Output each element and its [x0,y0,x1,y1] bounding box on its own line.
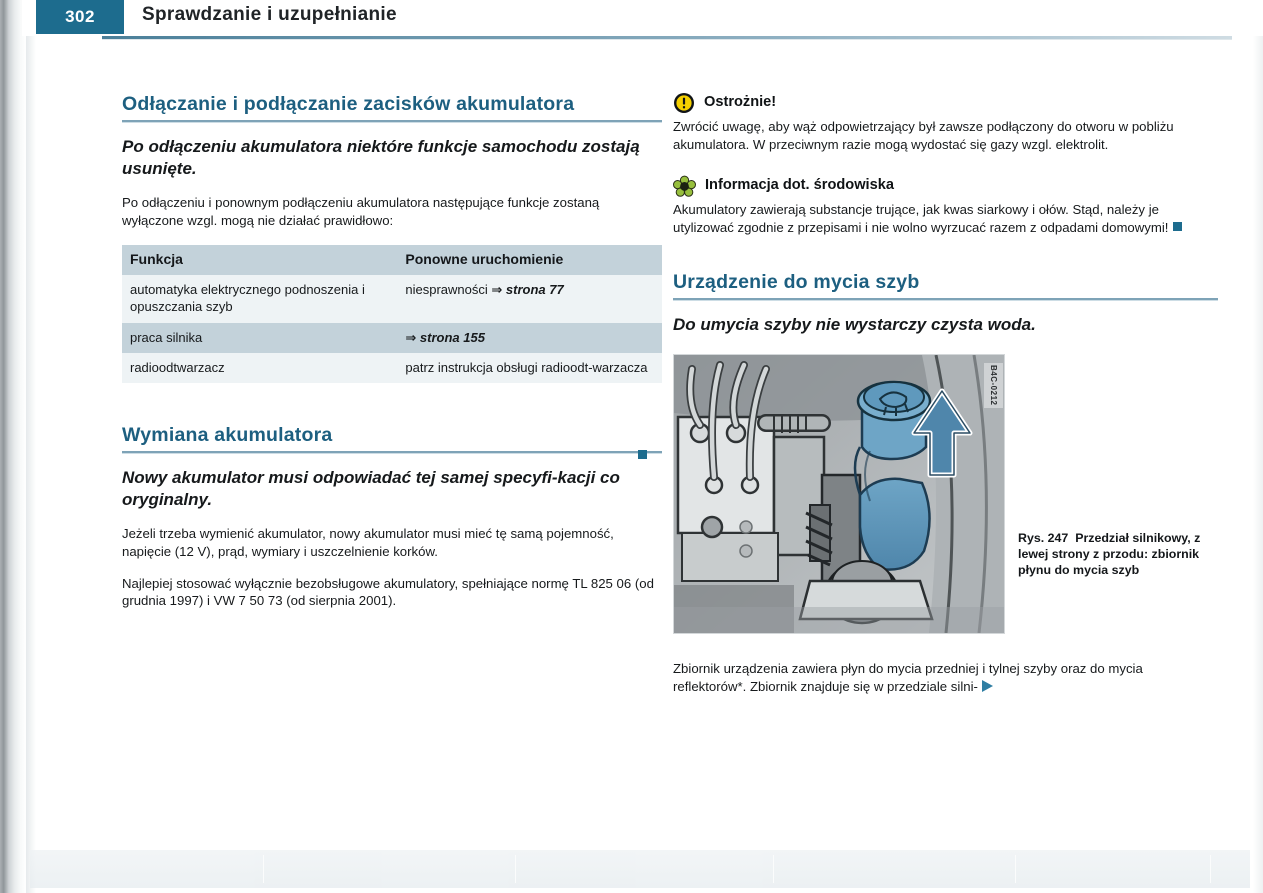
page-reference-link[interactable]: ⇒ strona 155 [405,330,485,345]
paragraph-battery-spec: Jeżeli trzeba wymienić akumulator, nowy … [122,525,662,560]
section-end-marker [1173,222,1182,231]
table-row: automatyka elektrycznego podnoszenia i o… [122,275,662,323]
notice-environment-text: Akumulatory zawierają substancje trujące… [673,201,1218,236]
page-right-edge [1253,0,1263,893]
paragraph-reservoir-contents: Zbiornik urządzenia zawiera płyn do myci… [673,660,1218,695]
page-reference-link[interactable]: ⇒ strona 77 [491,282,563,297]
paragraph-text: Zbiornik urządzenia zawiera płyn do myci… [673,661,1143,694]
engine-bay-illustration [674,355,1004,633]
heading-underline [122,451,662,453]
heading-replace-battery: Wymiana akumulatora [122,423,662,447]
col-header-funkcja: Funkcja [122,245,397,275]
cell-funkcja: praca silnika [122,323,397,353]
eco-flower-icon [673,175,696,197]
col-header-uruchomienie: Ponowne uruchomienie [397,245,662,275]
notice-caution-text: Zwrócić uwagę, aby wąż odpowietrzający b… [673,118,1218,153]
right-column: Ostrożnie! Zwrócić uwagę, aby wąż odpowi… [673,92,1218,696]
figure-id-label: B4C-0212 [984,363,1004,407]
continue-arrow-icon [982,680,993,692]
heading-disconnect-battery: Odłączanie i podłączanie zacisków akumul… [122,92,662,116]
cell-text: niesprawności [405,282,491,297]
figure-engine-bay-photo: B4C-0212 [673,354,1005,634]
warning-exclamation-icon [673,92,695,114]
figure-caption-number: Rys. 247 [1018,531,1068,545]
page-number-badge: 302 [36,0,124,34]
book-spine-shadow [0,0,26,893]
bleed-through-tabs [30,850,1250,888]
cell-uruchomienie: patrz instrukcja obsługi radioodt-warzac… [397,353,662,383]
notice-environment: Informacja dot. środowiska Akumulatory z… [673,175,1218,236]
notice-caution-title: Ostrożnie! [704,94,776,112]
page-header: 302 Sprawdzanie i uzupełnianie [22,0,1263,36]
cell-funkcja: automatyka elektrycznego podnoszenia i o… [122,275,397,323]
notice-environment-body: Akumulatory zawierają substancje trujące… [673,202,1168,235]
lead-disconnect-battery: Po odłączeniu akumulatora niektóre funkc… [122,136,662,180]
heading-underline [122,120,662,122]
section-end-marker [638,450,647,459]
intro-disconnect-battery: Po odłączeniu i ponownym podłączeniu aku… [122,194,662,229]
left-column: Odłączanie i podłączanie zacisków akumul… [122,92,662,610]
page-title: Sprawdzanie i uzupełnianie [142,4,397,26]
notice-caution-header: Ostrożnie! [673,92,1218,114]
lead-replace-battery: Nowy akumulator musi odpowiadać tej same… [122,467,662,511]
heading-washer-system: Urządzenie do mycia szyb [673,270,1218,294]
figure-block: B4C-0212 Rys. 247 Przedział silnikowy, z… [673,354,1218,634]
cell-text: patrz instrukcja obsługi radioodt-warzac… [405,360,647,375]
table-header-row: Funkcja Ponowne uruchomienie [122,245,662,275]
cell-uruchomienie: niesprawności ⇒ strona 77 [397,275,662,323]
header-rule-thin [102,39,1232,40]
cell-funkcja: radioodtwarzacz [122,353,397,383]
notice-caution: Ostrożnie! Zwrócić uwagę, aby wąż odpowi… [673,92,1218,153]
manual-page: 302 Sprawdzanie i uzupełnianie Odłączani… [0,0,1263,893]
table-row: radioodtwarzacz patrz instrukcja obsługi… [122,353,662,383]
paragraph-battery-standard: Najlepiej stosować wyłącznie bezobsługow… [122,575,662,610]
function-restart-table: Funkcja Ponowne uruchomienie automatyka … [122,245,662,383]
cell-uruchomienie: ⇒ strona 155 [397,323,662,353]
lead-washer-system: Do umycia szyby nie wystarczy czysta wod… [673,314,1218,336]
notice-environment-header: Informacja dot. środowiska [673,175,1218,197]
heading-underline [673,298,1218,300]
book-gutter [26,34,36,893]
table-row: praca silnika ⇒ strona 155 [122,323,662,353]
notice-environment-title: Informacja dot. środowiska [705,177,894,195]
figure-caption: Rys. 247 Przedział silnikowy, z lewej st… [1018,530,1213,578]
